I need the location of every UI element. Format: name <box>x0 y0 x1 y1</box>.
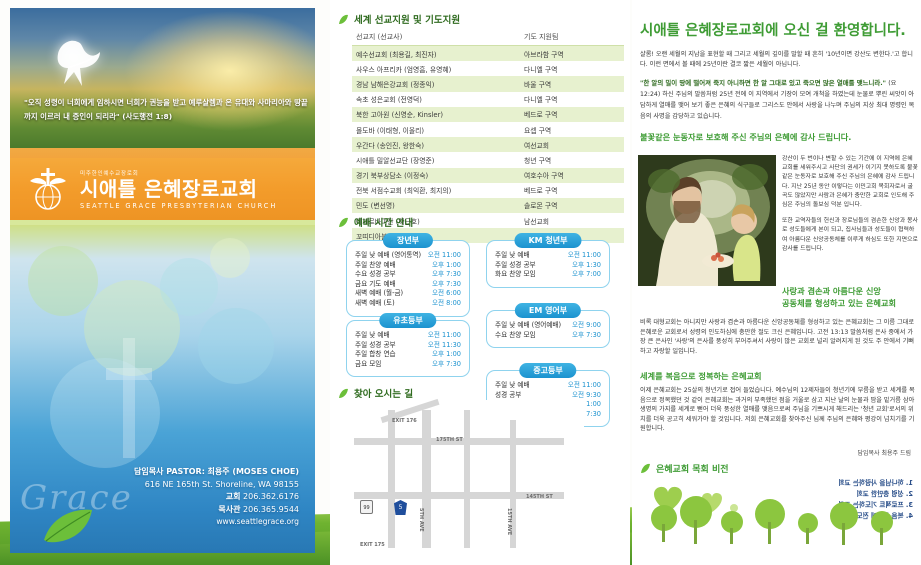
mission-field: 사우스 아프리카 (엄영흠, 유영혜) <box>356 64 524 74</box>
service-time: 오전 11:00 <box>428 251 461 261</box>
card-rows: 주일 낮 예배오전 11:00주일 성경 공부오전 11:30주일 합창 연습오… <box>355 331 461 369</box>
service-row: 수요 찬양 모임오후 7:30 <box>495 331 601 341</box>
card-title: EM 영어부 <box>515 303 581 318</box>
church-phone-line: 교회 206.362.6176 <box>49 491 299 504</box>
card-title: KM 청년부 <box>514 233 581 248</box>
church-logo-band: 미주한인예수교장로회 시애틀 은혜장로교회 SEATTLE GRACE PRES… <box>10 158 315 220</box>
road-label-exit175: EXIT 175 <box>360 542 385 548</box>
services-heading-text: 예배 시간 안내 <box>354 215 413 229</box>
prayer-team: 다니엘 구역 <box>524 94 557 104</box>
prayer-team: 요셉 구역 <box>524 125 551 135</box>
card-title: 유초등부 <box>379 313 436 328</box>
service-time: 오전 6:00 <box>432 289 461 299</box>
service-name: 주일 합창 연습 <box>355 350 396 360</box>
service-time: 오전 11:00 <box>568 381 601 391</box>
service-row: 주일 낮 예배 (영어예배)오전 9:00 <box>495 321 601 331</box>
mission-field: 민도 (변선명) <box>356 200 524 210</box>
left-panel: "오직 성령이 너희에게 임하시면 너희가 권능을 받고 예루살렘과 온 유대와… <box>10 8 315 553</box>
road-vertical <box>464 410 470 548</box>
service-row: 주일 합창 연습오후 1:00 <box>355 350 461 360</box>
road-label-15th-ave: 15TH AVE <box>506 508 512 535</box>
road-label-5th-ave: 5TH AVE <box>418 508 424 532</box>
highway-shield-5: 5 <box>394 500 407 515</box>
mission-field: 경기 북부상담소 (이정숙) <box>356 170 524 180</box>
prayer-team: 바울 구역 <box>524 79 551 89</box>
card-rows: 주일 낮 예배오전 11:00주일 성경 공부오후 1:30화요 찬양 모임오후… <box>495 251 601 280</box>
table-row: 전북 서점수교회 (최익환, 최지의)베드로 구역 <box>352 183 624 198</box>
brochure-page: "오직 성령이 너희에게 임하시면 너희가 권능을 받고 예루살렘과 온 유대와… <box>0 0 921 565</box>
mission-field: 경남 남해은강교회 (정종익) <box>356 79 524 89</box>
road-label-175th: 175TH ST <box>436 437 463 443</box>
table-row: 시애틀 밀알선교단 (장영준)청년 구역 <box>352 152 624 167</box>
mission-field: 몰도바 (이태형, 이올리) <box>356 125 524 135</box>
mission-field: 우간다 (송인진, 왕한숙) <box>356 140 524 150</box>
jesus-illustration <box>638 155 776 286</box>
service-time: 오전 11:30 <box>428 341 461 351</box>
service-card-children: 유초등부 주일 낮 예배오전 11:00주일 성경 공부오전 11:30주일 합… <box>346 320 470 377</box>
service-row: 주일 성경 공부오전 11:30 <box>355 341 461 351</box>
service-card-km: KM 청년부 주일 낮 예배오전 11:00주일 성경 공부오후 1:30화요 … <box>486 240 610 288</box>
prayer-team: 베드로 구역 <box>524 185 557 195</box>
mission-field: 예수선교회 (최용길, 최진자) <box>356 49 524 59</box>
service-name: 주일 낮 예배 <box>355 331 390 341</box>
service-row: 주일 성경 공부오후 1:30 <box>495 261 601 271</box>
cross-decoration-icon <box>106 338 152 458</box>
service-name: 주일 성경 공부 <box>495 261 536 271</box>
bible-verse: "오직 성령이 너희에게 임하시면 너희가 권능을 받고 예루살렘과 온 유대와… <box>24 96 309 124</box>
section-body-2: 비록 대형교회는 아니지만 사랑과 겸손과 아름다운 신앙공동체를 형성하고 있… <box>640 318 918 356</box>
service-row: 주일 찬양 예배오후 1:00 <box>355 261 461 271</box>
service-card-adult: 장년부 주일 낮 예배 (영어통역)오전 11:00주일 찬양 예배오후 1:0… <box>346 240 470 317</box>
table-row: 경남 남해은강교회 (정종익)바울 구역 <box>352 76 624 91</box>
mission-field: 시애틀 밀알선교단 (장영준) <box>356 155 524 165</box>
prayer-team: 베드로 구역 <box>524 109 557 119</box>
service-name: 주일 낮 예배 (영어예배) <box>495 321 561 331</box>
highway-shield-99: 99 <box>360 500 373 514</box>
service-name: 새벽 예배 (월-금) <box>355 289 403 299</box>
map-section-heading: 찾아 오시는 길 <box>338 386 413 400</box>
thanks-line: 불꽃같은 눈동자로 보호해 주신 주님의 은혜에 감사 드립니다. <box>640 131 916 143</box>
leaf-decoration-icon <box>42 506 94 546</box>
service-row: 금요 모임오후 7:30 <box>355 360 461 370</box>
service-time: 오전 11:00 <box>568 251 601 261</box>
prayer-team: 솔로몬 구역 <box>524 200 557 210</box>
service-time: 오후 7:00 <box>572 270 601 280</box>
welcome-intro: 샬롬! 오랜 세월의 지남을 표현할 때 그리고 세월의 깊이를 말할 때 흔히… <box>640 50 916 69</box>
right-col-p1: 강산이 두 번이나 변할 수 있는 기간에 이 지역에 은혜 교회를 세워주시고… <box>782 155 918 210</box>
card-title: 중고등부 <box>519 363 576 378</box>
vision-heading-text: 은혜교회 목회 비전 <box>656 462 729 475</box>
logo-denomination: 미주한인예수교장로회 <box>80 169 277 177</box>
table-row: 속초 성은교회 (전영덕)다니엘 구역 <box>352 92 624 107</box>
mission-field: 전북 서점수교회 (최익환, 최지의) <box>356 185 524 195</box>
church-phone-label: 교회 <box>226 492 241 501</box>
service-row: 주일 낮 예배 (영어통역)오전 11:00 <box>355 251 461 261</box>
pastor-signature: 담임목사 최용주 드림 <box>858 448 912 457</box>
mission-field: 속초 성은교회 (전영덕) <box>356 94 524 104</box>
section-heading-2: 사랑과 겸손과 아름다운 신앙 공동체를 형성하고 있는 은혜교회 <box>782 285 920 309</box>
pastor-name: 최용주 (MOSES CHOE) <box>207 467 299 476</box>
dove-icon <box>48 34 108 90</box>
missions-heading-text: 세계 선교지원 및 기도지원 <box>354 12 460 26</box>
service-row: 주일 낮 예배오전 11:00 <box>495 251 601 261</box>
middle-panel: 세계 선교지원 및 기도지원 선교지 (선교사) 기도 지원팀 예수선교회 (최… <box>330 0 630 565</box>
pastor-line: 담임목사 PASTOR: 최용주 (MOSES CHOE) <box>49 466 299 479</box>
right-column-text: 강산이 두 번이나 변할 수 있는 기간에 이 지역에 은혜 교회를 세워주시고… <box>782 155 918 254</box>
bokeh-decoration <box>28 246 98 316</box>
bokeh-decoration <box>210 238 250 278</box>
table-row: 우간다 (송인진, 왕한숙)여선교회 <box>352 137 624 152</box>
parsonage-phone-label: 목사관 <box>218 505 240 514</box>
logo-english-name: SEATTLE GRACE PRESBYTERIAN CHURCH <box>80 202 277 210</box>
prayer-team: 아브라함 구역 <box>524 49 564 59</box>
service-time: 오후 7:30 <box>432 360 461 370</box>
service-time: 오전 11:00 <box>428 331 461 341</box>
service-time: 오후 7:30 <box>432 280 461 290</box>
scripture-quote: "한 알의 밀이 땅에 떨어져 죽지 아니하면 한 알 그대로 있고 죽으면 많… <box>640 79 886 87</box>
service-name: 새벽 예배 (토) <box>355 299 395 309</box>
leaf-bullet-icon <box>338 217 349 228</box>
service-name: 금요 기도 예배 <box>355 280 396 290</box>
card-rows: 주일 낮 예배 (영어통역)오전 11:00주일 찬양 예배오후 1:00수요 … <box>355 251 461 309</box>
section-heading-3: 세계를 복음으로 정복하는 은혜교회 <box>640 370 918 382</box>
service-time: 오후 7:30 <box>572 331 601 341</box>
service-time: 오후 1:30 <box>572 261 601 271</box>
missions-section-heading: 세계 선교지원 및 기도지원 <box>338 12 624 26</box>
location-map[interactable]: EXIT 176 175TH ST 145TH ST EXIT 175 5TH … <box>344 400 584 550</box>
service-name: 수요 성경 공부 <box>355 270 396 280</box>
table-row: 북한 고아원 (신영순, Kinsler)베드로 구역 <box>352 107 624 122</box>
service-row: 주일 낮 예배오전 11:00 <box>495 381 601 391</box>
table-row: 민도 (변선명)솔로몬 구역 <box>352 198 624 213</box>
card-title: 장년부 <box>383 233 433 248</box>
bokeh-decoration <box>198 308 274 384</box>
service-time: 오후 1:00 <box>432 350 461 360</box>
welcome-title: 시애틀 은혜장로교회에 오신 걸 환영합니다. <box>640 22 918 40</box>
col-field: 선교지 (선교사) <box>356 32 524 42</box>
service-name: 주일 낮 예배 (영어통역) <box>355 251 421 261</box>
service-name: 주일 낮 예배 <box>495 251 530 261</box>
prayer-team: 청년 구역 <box>524 155 551 165</box>
service-row: 새벽 예배 (월-금)오전 6:00 <box>355 289 461 299</box>
service-name: 수요 찬양 모임 <box>495 331 536 341</box>
pastor-label: 담임목사 PASTOR: <box>134 467 205 476</box>
prayer-team: 여선교회 <box>524 140 549 150</box>
address-line: 616 NE 165th St. Shoreline, WA 98155 <box>49 479 299 492</box>
road-label-exit176: EXIT 176 <box>392 418 417 424</box>
card-rows: 주일 낮 예배 (영어예배)오전 9:00수요 찬양 모임오후 7:30 <box>495 321 601 340</box>
trees-decoration-icon <box>640 492 910 552</box>
section-body-3: 이제 은혜교회는 25살의 청년기로 접어 들었습니다. 예수님의 12제자들이… <box>640 386 918 434</box>
col-team: 기도 지원팀 <box>524 32 558 42</box>
map-heading-text: 찾아 오시는 길 <box>354 386 413 400</box>
service-name: 금요 모임 <box>355 360 381 370</box>
service-row: 금요 기도 예배오후 7:30 <box>355 280 461 290</box>
vision-section-heading: 은혜교회 목회 비전 <box>640 462 729 475</box>
road-label-145th: 145TH ST <box>526 494 553 500</box>
prayer-team: 다니엘 구역 <box>524 64 557 74</box>
jesus-with-child-image <box>638 155 776 286</box>
table-row: 사우스 아프리카 (엄영흠, 유영혜)다니엘 구역 <box>352 61 624 76</box>
service-time: 오전 8:00 <box>432 299 461 309</box>
road-vertical <box>388 410 395 548</box>
service-row: 주일 낮 예배오전 11:00 <box>355 331 461 341</box>
leaf-bullet-icon <box>338 388 349 399</box>
service-time: 오전 9:30 <box>572 391 601 401</box>
table-row: 경기 북부상담소 (이정숙)여호수아 구역 <box>352 168 624 183</box>
missions-table-body: 예수선교회 (최용길, 최진자)아브라함 구역사우스 아프리카 (엄영흠, 유영… <box>352 46 624 243</box>
service-name: 성경 공부 <box>495 391 521 401</box>
bokeh-decoration <box>160 258 218 316</box>
service-name: 주일 찬양 예배 <box>355 261 396 271</box>
service-row: 성경 공부오전 9:30 <box>495 391 601 401</box>
mission-field: 북한 고아원 (신영순, Kinsler) <box>356 109 524 119</box>
service-time: 오후 1:00 <box>432 261 461 271</box>
service-row: 수요 성경 공부오후 7:30 <box>355 270 461 280</box>
service-name: 주일 성경 공부 <box>355 341 396 351</box>
service-name: 화요 찬양 모임 <box>495 270 536 280</box>
service-card-em: EM 영어부 주일 낮 예배 (영어예배)오전 9:00수요 찬양 모임오후 7… <box>486 310 610 348</box>
service-time: 오후 7:30 <box>432 270 461 280</box>
right-col-p2: 또한 교역자들의 헌신과 장로님들의 겸손한 신앙과 봉사로 성도들에게 본이 … <box>782 217 918 254</box>
service-row: 화요 찬양 모임오후 7:00 <box>495 270 601 280</box>
service-time: 오전 9:00 <box>572 321 601 331</box>
table-row: 예수선교회 (최용길, 최진자)아브라함 구역 <box>352 46 624 61</box>
missions-table-header: 선교지 (선교사) 기도 지원팀 <box>352 30 624 46</box>
church-crest-icon <box>26 166 70 212</box>
prayer-team: 여호수아 구역 <box>524 170 564 180</box>
services-section-heading: 예배 시간 안내 <box>338 215 624 229</box>
leaf-bullet-icon <box>338 14 349 25</box>
service-row: 새벽 예배 (토)오전 8:00 <box>355 299 461 309</box>
missions-table: 선교지 (선교사) 기도 지원팀 예수선교회 (최용길, 최진자)아브라함 구역… <box>352 30 624 243</box>
leaf-bullet-icon <box>640 463 651 474</box>
service-name: 주일 낮 예배 <box>495 381 530 391</box>
logo-text-group: 미주한인예수교장로회 시애틀 은혜장로교회 SEATTLE GRACE PRES… <box>80 169 277 210</box>
table-row: 몰도바 (이태형, 이올리)요셉 구역 <box>352 122 624 137</box>
church-phone-value: 206.362.6176 <box>243 492 299 501</box>
scripture-quote-block: "한 알의 밀이 땅에 떨어져 죽지 아니하면 한 알 그대로 있고 죽으면 많… <box>640 78 916 122</box>
logo-korean-name: 시애틀 은혜장로교회 <box>80 178 277 200</box>
parsonage-phone-value: 206.365.9544 <box>243 505 299 514</box>
